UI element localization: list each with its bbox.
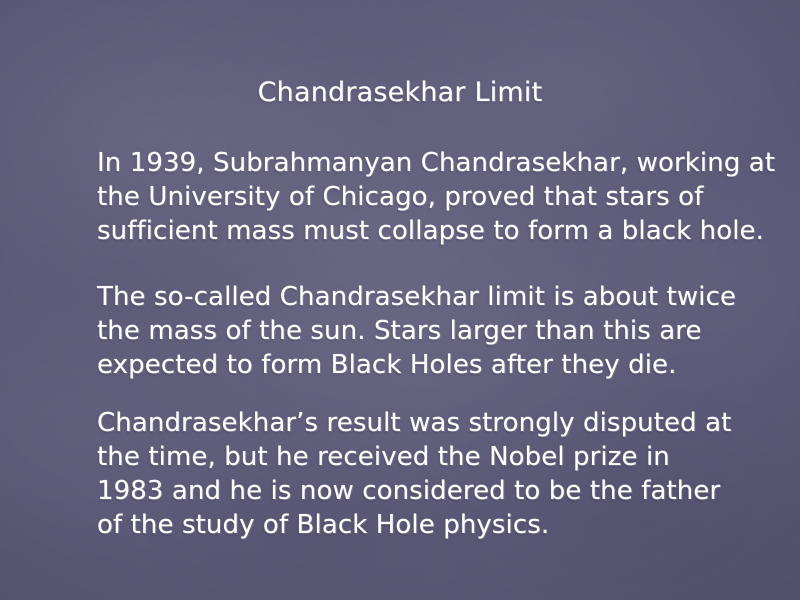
paragraph-2-line-2: the mass of the sun. Stars larger than t… — [97, 314, 737, 348]
paragraph-spacer-1 — [97, 248, 737, 280]
paragraph-3: Chandrasekhar’s result was strongly disp… — [97, 406, 737, 542]
paragraph-1: In 1939, Subrahmanyan Chandrasekhar, wor… — [97, 146, 737, 248]
paragraph-spacer-2 — [97, 382, 737, 406]
paragraph-2: The so-called Chandrasekhar limit is abo… — [97, 280, 737, 382]
paragraph-1-line-1: In 1939, Subrahmanyan Chandrasekhar, wor… — [97, 146, 737, 180]
paragraph-2-line-1: The so-called Chandrasekhar limit is abo… — [97, 280, 737, 314]
slide-title: Chandrasekhar Limit — [0, 76, 800, 110]
paragraph-1-line-3: sufficient mass must collapse to form a … — [97, 214, 737, 248]
paragraph-1-line-2: the University of Chicago, proved that s… — [97, 180, 737, 214]
paragraph-3-line-3: 1983 and he is now considered to be the … — [97, 474, 737, 508]
paragraph-2-line-3: expected to form Black Holes after they … — [97, 348, 737, 382]
paragraph-3-line-1: Chandrasekhar’s result was strongly disp… — [97, 406, 737, 440]
paragraph-3-line-2: the time, but he received the Nobel priz… — [97, 440, 737, 474]
presentation-slide: Chandrasekhar Limit In 1939, Subrahmanya… — [0, 0, 800, 600]
paragraph-3-line-4: of the study of Black Hole physics. — [97, 508, 737, 542]
slide-content: Chandrasekhar Limit In 1939, Subrahmanya… — [0, 0, 800, 600]
slide-body: In 1939, Subrahmanyan Chandrasekhar, wor… — [97, 146, 737, 542]
